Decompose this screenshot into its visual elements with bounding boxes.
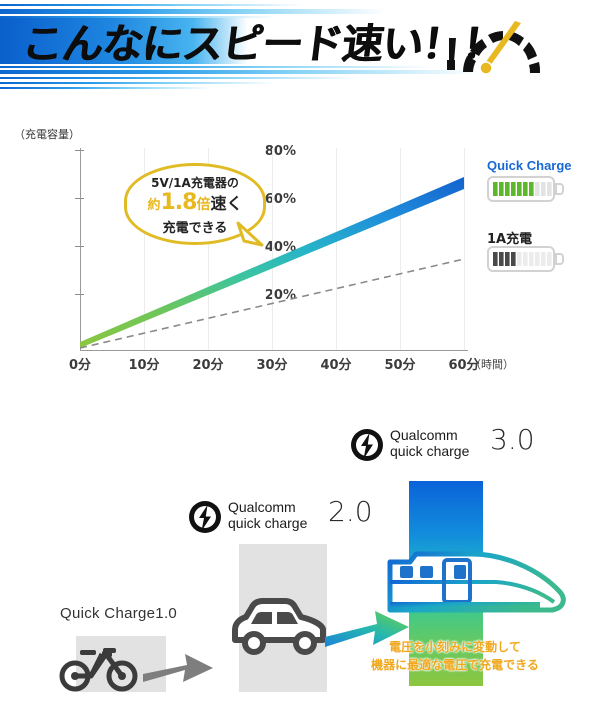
qualcomm-sub-2: quick charge xyxy=(228,515,307,531)
infographic-page: こんなにスピード速い！！ （充電容量） xyxy=(0,0,600,713)
speed-callout-bubble: 5V/1A充電器の 約1.8倍速く 充電できる xyxy=(124,163,266,245)
bicycle-icon xyxy=(58,642,142,692)
callout-bai: 倍 xyxy=(196,197,210,213)
callout-approx: 約 xyxy=(147,198,160,213)
qualcomm-bolt-icon xyxy=(188,500,222,534)
x-tick-30: 30分 xyxy=(242,354,302,373)
qualcomm-brand-2: Qualcomm xyxy=(228,499,296,515)
car-icon xyxy=(225,596,331,658)
qualcomm-version-2: 2.0 xyxy=(328,495,373,528)
callout-line-1: 5V/1A充電器の xyxy=(124,174,266,191)
callout-line-3: 充電できる xyxy=(124,217,266,236)
x-tick-50: 50分 xyxy=(370,354,430,373)
x-tick-40: 40分 xyxy=(306,354,366,373)
x-tick-10: 10分 xyxy=(114,354,174,373)
x-tick-20: 20分 xyxy=(178,354,238,373)
y-axis-label: （充電容量） xyxy=(14,126,80,142)
callout-line-2: 約1.8倍速く xyxy=(124,190,266,215)
header-banner: こんなにスピード速い！！ xyxy=(0,0,600,92)
callout-faster: 速く xyxy=(210,194,242,213)
legend-quick-charge-label: Quick Charge xyxy=(487,158,572,173)
qualcomm-sub-3: quick charge xyxy=(390,443,469,459)
callout-multiplier: 1.8 xyxy=(161,190,197,215)
x-axis-label: （時間） xyxy=(470,356,514,372)
stage3-caption: 電圧を小刻みに変動して 機器に最適な電圧で充電できる xyxy=(340,638,570,674)
battery-icon-quick-charge xyxy=(487,176,563,202)
legend-1a-label: 1A充電 xyxy=(487,228,532,247)
battery-icon-1a xyxy=(487,246,563,272)
qualcomm-logo-2: Qualcomm quick charge 2.0 xyxy=(188,500,338,534)
qualcomm-version-3: 3.0 xyxy=(490,423,535,456)
bullet-train-icon xyxy=(386,546,568,618)
x-axis-line xyxy=(80,350,468,351)
page-title: こんなにスピード速い！！ xyxy=(18,14,466,76)
caption-line-1: 電圧を小刻みに変動して xyxy=(340,638,570,656)
quick-charge-1-label: Quick Charge1.0 xyxy=(60,605,177,622)
qualcomm-brand-3: Qualcomm xyxy=(390,427,458,443)
qualcomm-bolt-icon xyxy=(350,428,384,462)
qualcomm-logo-3: Qualcomm quick charge 3.0 xyxy=(350,428,500,462)
speedometer-icon xyxy=(443,6,555,78)
caption-line-2: 機器に最適な電圧で充電できる xyxy=(340,656,570,674)
evolution-diagram: Qualcomm quick charge 3.0 Qualcomm quick… xyxy=(0,400,600,713)
x-tick-0: 0分 xyxy=(50,354,110,373)
gray-arrow-right-icon xyxy=(143,648,215,688)
